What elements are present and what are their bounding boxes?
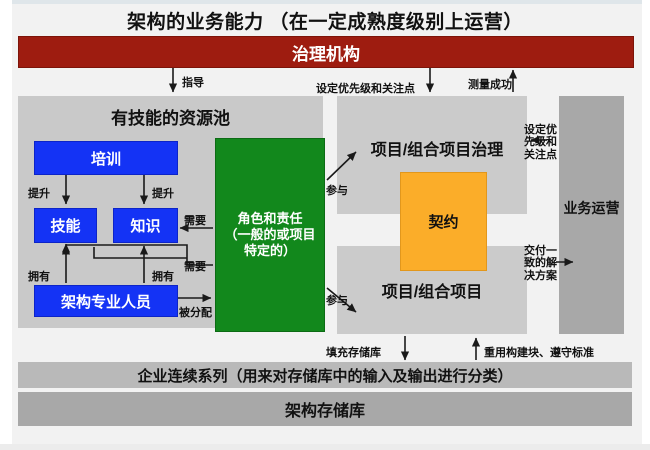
page-top-edge: [0, 0, 650, 4]
diagram-canvas: 架构的业务能力 （在一定成熟度级别上运营） 治理机构 有技能的资源池 培训 技能…: [0, 0, 650, 450]
label-set-priority-right-line2: 先级和: [524, 136, 568, 148]
enterprise-continuum-label: 企业连续系列（用来对存储库中的输入及输出进行分类）: [137, 365, 512, 386]
business-operations-panel: 业务运营: [559, 96, 624, 334]
knowledge-box-label: 知识: [130, 215, 160, 236]
label-deliver-solutions: 交付一 致的解 决方案: [524, 245, 568, 282]
label-upgrade-right: 提升: [152, 185, 174, 201]
roles-line-2: （一般的或项目: [224, 227, 315, 243]
page-bottom-edge: [0, 444, 650, 450]
project-label: 项目/组合项目: [337, 278, 527, 302]
roles-and-responsibilities-box: 角色和责任 （一般的或项目 特定的）: [215, 138, 325, 332]
label-need-bottom: 需要: [184, 258, 206, 274]
page-right-rail: [642, 0, 650, 450]
roles-line-3: 特定的）: [224, 243, 315, 259]
roles-line-1: 角色和责任: [224, 211, 315, 227]
label-set-priority-top: 设定优先级和关注点: [316, 80, 415, 96]
label-reuse-standards: 重用构建块、遵守标准: [484, 344, 594, 360]
label-participate-top: 参与: [326, 182, 348, 198]
enterprise-continuum-bar: 企业连续系列（用来对存储库中的输入及输出进行分类）: [18, 362, 632, 388]
label-guide: 指导: [182, 74, 204, 90]
training-box-label: 培训: [91, 148, 121, 169]
architecture-repository-label: 架构存储库: [285, 397, 365, 421]
label-assigned: 被分配: [179, 304, 212, 320]
knowledge-box: 知识: [113, 208, 178, 243]
architecture-professionals-label: 架构专业人员: [61, 291, 151, 312]
label-set-priority-right-line3: 关注点: [524, 149, 568, 161]
label-deliver-line2: 致的解: [524, 257, 568, 269]
label-deliver-line3: 决方案: [524, 270, 568, 282]
label-have-right: 拥有: [152, 268, 174, 284]
contract-box-label: 契约: [428, 211, 458, 232]
contract-box: 契约: [400, 172, 487, 271]
label-participate-bottom: 参与: [326, 292, 348, 308]
label-upgrade-left: 提升: [28, 185, 50, 201]
training-box: 培训: [34, 141, 178, 175]
page-left-rail: [0, 0, 12, 450]
skilled-resource-pool-title: 有技能的资源池: [18, 104, 323, 129]
governance-bar-label: 治理机构: [292, 40, 360, 65]
architecture-professionals-box: 架构专业人员: [34, 285, 178, 317]
project-governance-label: 项目/组合项目治理: [332, 136, 542, 160]
label-set-priority-right: 设定优 先级和 关注点: [524, 124, 568, 161]
business-operations-label: 业务运营: [559, 201, 624, 216]
architecture-repository-bar: 架构存储库: [18, 392, 632, 426]
label-fill-repository: 填充存储库: [326, 344, 381, 360]
diagram-title: 架构的业务能力 （在一定成熟度级别上运营）: [0, 6, 650, 34]
label-need-top: 需要: [184, 212, 206, 228]
skill-box-label: 技能: [50, 215, 80, 236]
skill-box: 技能: [34, 208, 97, 243]
label-deliver-line1: 交付一: [524, 245, 568, 257]
governance-bar: 治理机构: [18, 36, 634, 68]
label-measure-success: 测量成功: [468, 76, 512, 92]
label-set-priority-right-line1: 设定优: [524, 124, 568, 136]
label-have-left: 拥有: [28, 268, 50, 284]
